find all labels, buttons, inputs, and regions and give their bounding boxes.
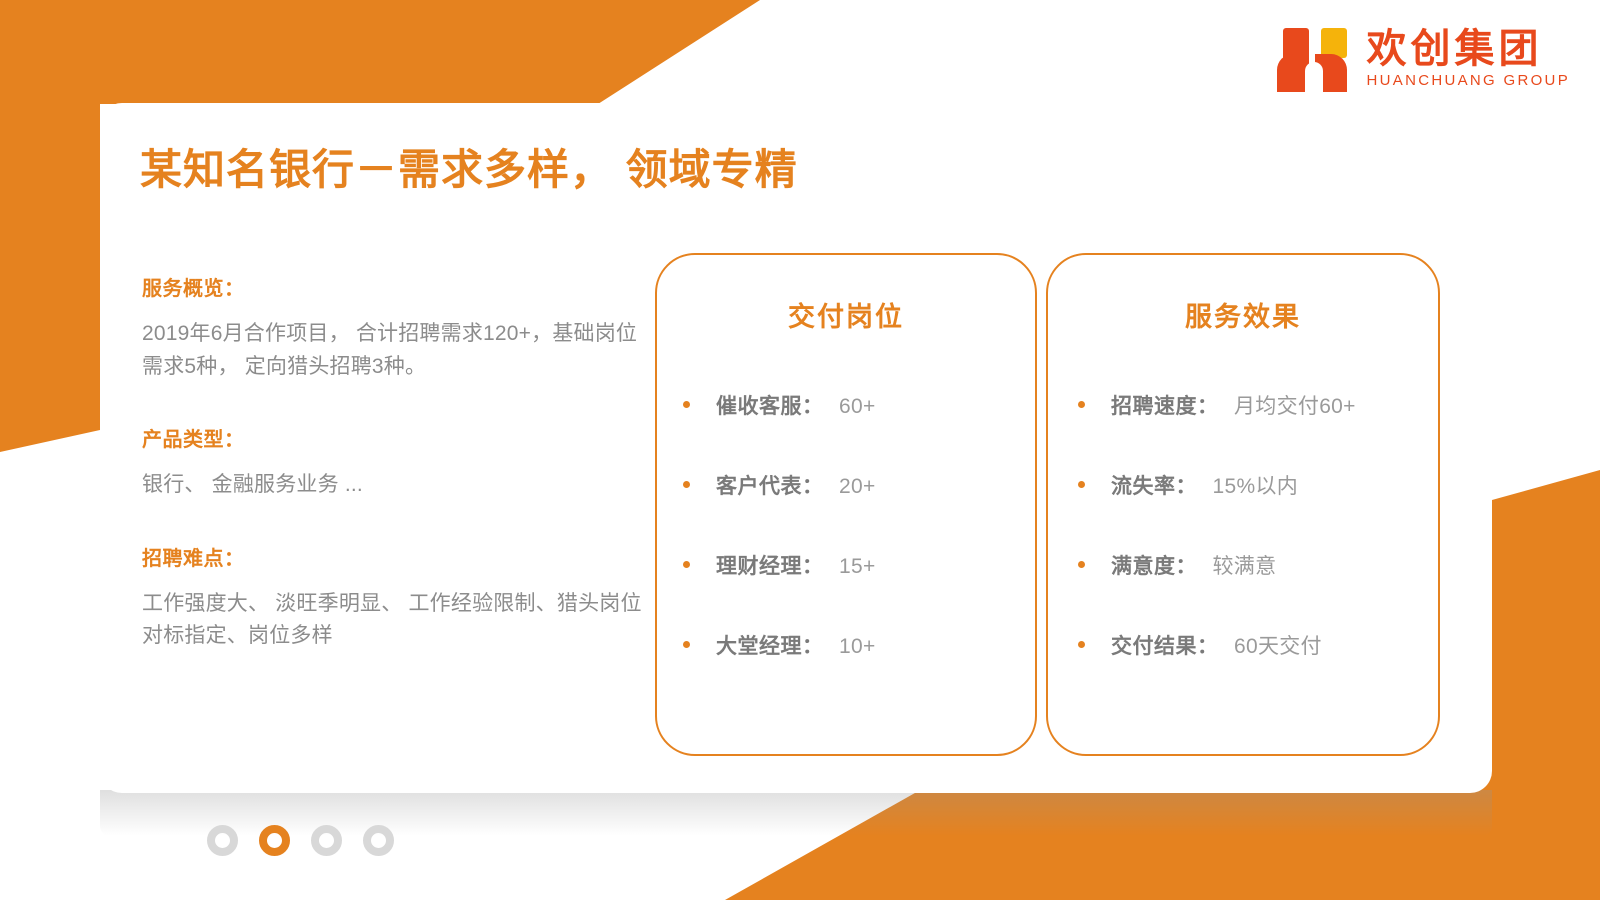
- item-value: 15%以内: [1213, 470, 1299, 500]
- list-item: 大堂经理 ： 10+: [683, 630, 1035, 660]
- page-title: 某知名银行－需求多样， 领域专精: [140, 136, 798, 197]
- list-item: 理财经理 ： 15+: [683, 550, 1035, 580]
- bullet-dot-icon: [1078, 481, 1085, 488]
- card-service-results: 服务效果 招聘速度 ： 月均交付60+ 流失率 ： 15%以内 满意度 ： 较满…: [1046, 253, 1440, 756]
- info-block-overview: 服务概览： 2019年6月合作项目， 合计招聘需求120+，基础岗位需求5种， …: [142, 272, 652, 383]
- card-item-list: 招聘速度 ： 月均交付60+ 流失率 ： 15%以内 满意度 ： 较满意 交付结…: [1048, 390, 1438, 660]
- logo-h-mark-icon: [1277, 24, 1351, 92]
- pagination-dot-1[interactable]: [207, 825, 238, 856]
- card-title: 交付岗位: [657, 295, 1035, 334]
- logo-h-notch: [1305, 62, 1323, 92]
- item-separator: ：: [1197, 390, 1218, 420]
- info-body: 工作强度大、 淡旺季明显、 工作经验限制、猎头岗位对标指定、岗位多样: [142, 588, 652, 653]
- bullet-dot-icon: [1078, 641, 1085, 648]
- item-value: 60+: [839, 395, 876, 419]
- logo-h-body: [1277, 54, 1351, 92]
- info-block-product-type: 产品类型： 银行、 金融服务业务 ...: [142, 423, 652, 502]
- info-heading: 服务概览：: [142, 272, 652, 301]
- list-item: 交付结果 ： 60天交付: [1078, 630, 1438, 660]
- bullet-dot-icon: [683, 481, 690, 488]
- item-label: 满意度: [1111, 550, 1176, 580]
- logo-text: 欢创集团 HUANCHUANG GROUP: [1367, 28, 1570, 89]
- card-title: 服务效果: [1048, 295, 1438, 334]
- item-label: 催收客服: [716, 390, 802, 420]
- pagination-dot-2[interactable]: [259, 825, 290, 856]
- item-separator: ：: [1197, 630, 1218, 660]
- pagination-dot-3[interactable]: [311, 825, 342, 856]
- item-label: 招聘速度: [1111, 390, 1197, 420]
- item-separator: ：: [802, 550, 823, 580]
- logo-name-cn: 欢创集团: [1367, 28, 1570, 70]
- info-body: 银行、 金融服务业务 ...: [142, 469, 652, 502]
- item-label: 流失率: [1111, 470, 1176, 500]
- info-heading: 产品类型：: [142, 423, 652, 452]
- item-label: 大堂经理: [716, 630, 802, 660]
- company-logo: 欢创集团 HUANCHUANG GROUP: [1277, 24, 1570, 92]
- logo-h-left: [1277, 54, 1309, 92]
- list-item: 招聘速度 ： 月均交付60+: [1078, 390, 1438, 420]
- item-separator: ：: [802, 470, 823, 500]
- bullet-dot-icon: [683, 561, 690, 568]
- info-block-difficulties: 招聘难点： 工作强度大、 淡旺季明显、 工作经验限制、猎头岗位对标指定、岗位多样: [142, 542, 652, 653]
- bullet-dot-icon: [683, 401, 690, 408]
- list-item: 客户代表 ： 20+: [683, 470, 1035, 500]
- item-label: 客户代表: [716, 470, 802, 500]
- logo-name-en: HUANCHUANG GROUP: [1367, 72, 1570, 89]
- item-label: 交付结果: [1111, 630, 1197, 660]
- item-separator: ：: [802, 630, 823, 660]
- info-column: 服务概览： 2019年6月合作项目， 合计招聘需求120+，基础岗位需求5种， …: [142, 272, 652, 653]
- list-item: 催收客服 ： 60+: [683, 390, 1035, 420]
- pagination-dot-4[interactable]: [363, 825, 394, 856]
- item-value: 较满意: [1213, 550, 1277, 580]
- list-item: 满意度 ： 较满意: [1078, 550, 1438, 580]
- list-item: 流失率 ： 15%以内: [1078, 470, 1438, 500]
- info-body: 2019年6月合作项目， 合计招聘需求120+，基础岗位需求5种， 定向猎头招聘…: [142, 318, 652, 383]
- item-value: 15+: [839, 555, 876, 579]
- item-value: 10+: [839, 635, 876, 659]
- pagination-dots[interactable]: [207, 825, 394, 856]
- bullet-dot-icon: [1078, 401, 1085, 408]
- info-heading: 招聘难点：: [142, 542, 652, 571]
- item-separator: ：: [1176, 470, 1197, 500]
- item-label: 理财经理: [716, 550, 802, 580]
- item-value: 月均交付60+: [1234, 390, 1356, 420]
- card-item-list: 催收客服 ： 60+ 客户代表 ： 20+ 理财经理 ： 15+ 大堂经理 ： …: [657, 390, 1035, 660]
- slide-root: 欢创集团 HUANCHUANG GROUP 某知名银行－需求多样， 领域专精 服…: [0, 0, 1600, 900]
- bullet-dot-icon: [683, 641, 690, 648]
- item-value: 20+: [839, 475, 876, 499]
- card-delivery-positions: 交付岗位 催收客服 ： 60+ 客户代表 ： 20+ 理财经理 ： 15+: [655, 253, 1037, 756]
- item-separator: ：: [802, 390, 823, 420]
- item-separator: ：: [1176, 550, 1197, 580]
- item-value: 60天交付: [1234, 630, 1322, 660]
- bullet-dot-icon: [1078, 561, 1085, 568]
